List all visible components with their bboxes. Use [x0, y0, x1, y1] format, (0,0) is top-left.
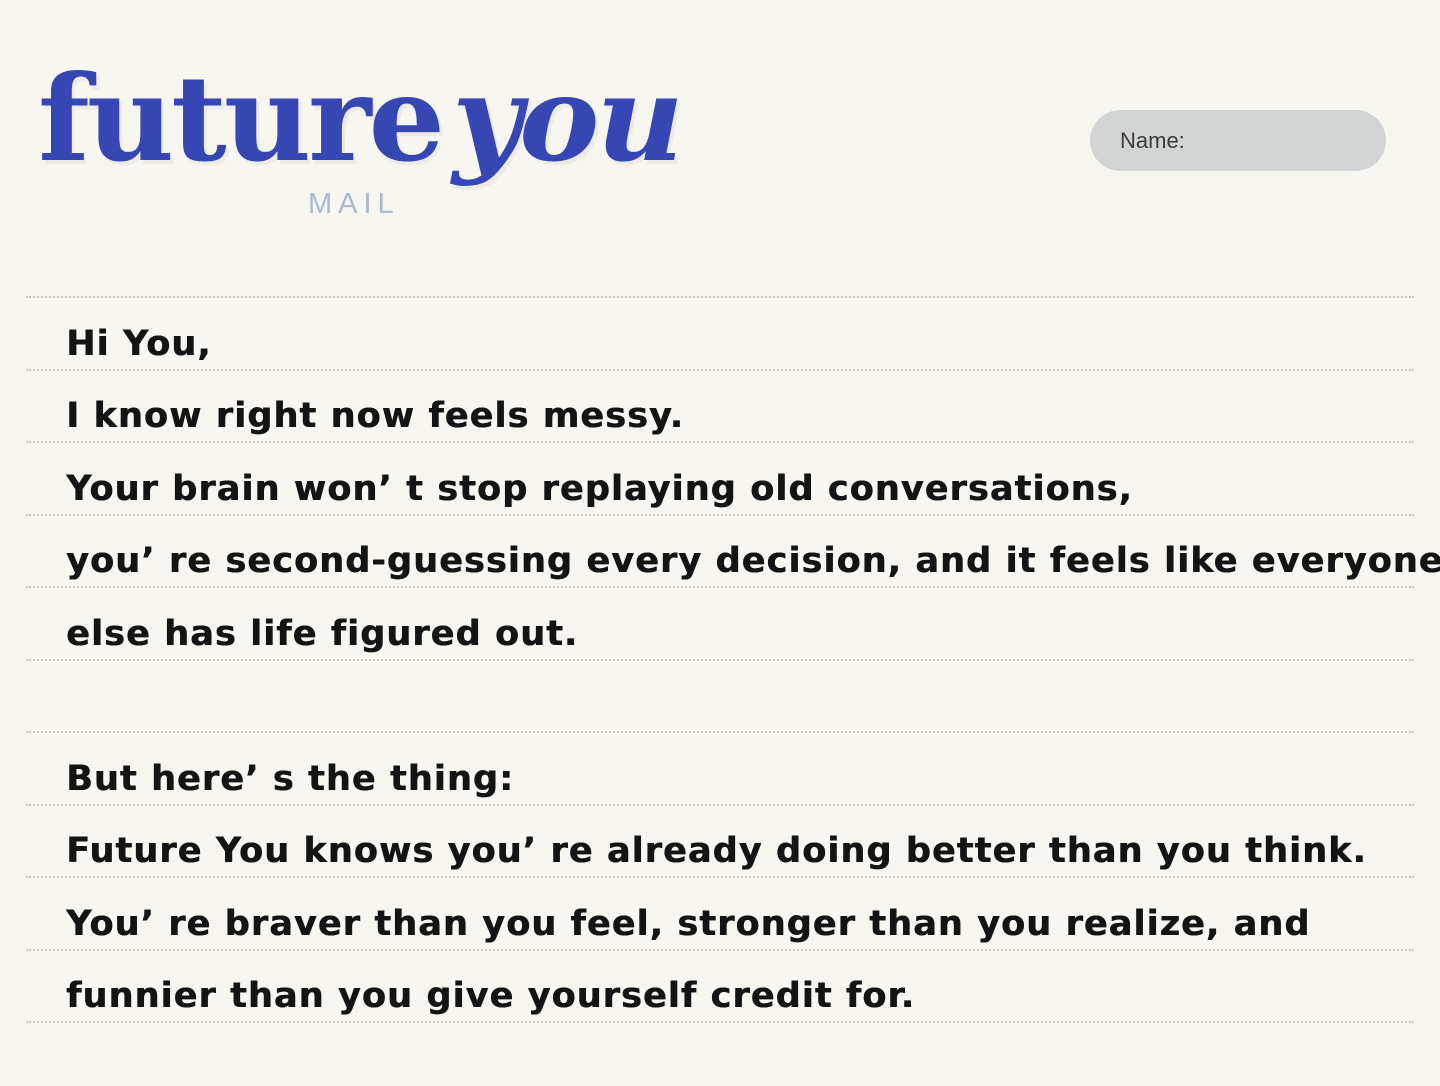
- letter-line-blank: [66, 659, 1396, 732]
- letter-line: Future You knows you’ re already doing b…: [66, 804, 1396, 877]
- letter-line: you’ re second-guessing every decision, …: [66, 514, 1396, 587]
- letter-line: You’ re braver than you feel, stronger t…: [66, 876, 1396, 949]
- letter-line: funnier than you give yourself credit fo…: [66, 949, 1396, 1022]
- logo-word-you: you: [452, 49, 681, 188]
- page-root: futureyou MAIL Name: Hi You,I know right…: [0, 0, 1440, 1086]
- brand-logo: futureyou MAIL: [38, 60, 698, 178]
- letter-line: else has life figured out.: [66, 586, 1396, 659]
- letter-line: But here’ s the thing:: [66, 731, 1396, 804]
- logo-subtitle: MAIL: [308, 188, 400, 221]
- letter-line: Your brain won’ t stop replaying old con…: [66, 441, 1396, 514]
- rule-line: [26, 1021, 1414, 1023]
- letter-line: Hi You,: [66, 296, 1396, 369]
- name-input-label: Name:: [1120, 128, 1185, 154]
- logo-wordmark: futureyou: [38, 60, 711, 178]
- ruled-letter-sheet: Hi You,I know right now feels messy.Your…: [0, 296, 1440, 1086]
- letter-line: I know right now feels messy.: [66, 369, 1396, 442]
- name-input[interactable]: Name:: [1090, 110, 1386, 171]
- page-header: futureyou MAIL Name:: [0, 0, 1440, 296]
- logo-word-future: future: [38, 49, 442, 188]
